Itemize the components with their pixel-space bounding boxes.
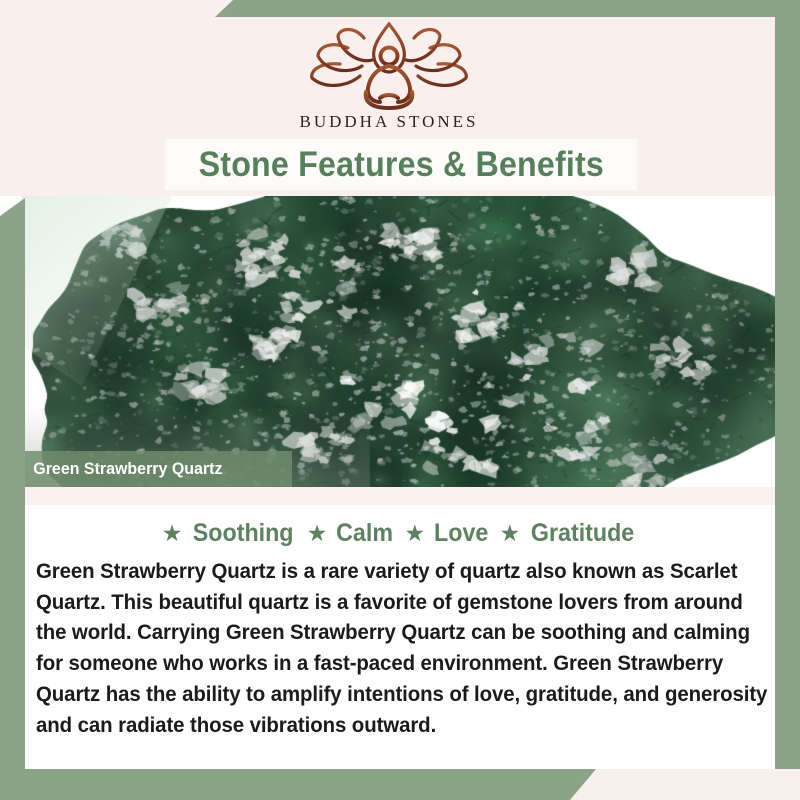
frame-band-top <box>215 0 800 17</box>
content-panel: ★ Soothing ★ Calm ★ Love ★ Gratitude Gre… <box>22 505 778 769</box>
keyword-label: Gratitude <box>531 519 634 548</box>
star-icon: ★ <box>162 522 183 545</box>
description-paragraph: Green Strawberry Quartz is a rare variet… <box>36 556 768 740</box>
frame-band-bottom <box>0 769 620 800</box>
keyword-item: ★ Calm <box>307 519 396 548</box>
divider-strip <box>22 487 778 505</box>
product-photo: Green Strawberry Quartz <box>22 196 778 487</box>
brand-logo: BUDDHA STONES <box>0 18 778 132</box>
keyword-label: Soothing <box>193 519 294 548</box>
keyword-list: ★ Soothing ★ Calm ★ Love ★ Gratitude <box>22 505 778 548</box>
brand-name: BUDDHA STONES <box>0 112 778 132</box>
frame-band-right <box>775 17 800 769</box>
green-strawberry-quartz-image <box>22 196 778 487</box>
lotus-meditation-figure-icon <box>304 18 474 110</box>
keyword-label: Calm <box>336 519 393 548</box>
keyword-item: ★ Love <box>404 519 490 548</box>
keyword-item: ★ Gratitude <box>499 519 638 548</box>
keyword-item: ★ Soothing <box>162 519 298 548</box>
star-icon: ★ <box>404 522 425 545</box>
frame-band-left <box>0 198 25 780</box>
photo-caption-label: Green Strawberry Quartz <box>22 459 222 479</box>
star-icon: ★ <box>499 522 520 545</box>
page-title: Stone Features & Benefits <box>198 145 603 185</box>
title-plaque: Stone Features & Benefits <box>165 139 637 190</box>
keyword-label: Love <box>434 519 488 548</box>
photo-caption-bar: Green Strawberry Quartz <box>22 451 292 487</box>
star-icon: ★ <box>307 522 328 545</box>
header-panel: BUDDHA STONES Stone Features & Benefits <box>0 0 778 196</box>
frame-band-bottom-right <box>570 769 800 800</box>
product-info-poster: BUDDHA STONES Stone Features & Benefits … <box>0 0 800 800</box>
